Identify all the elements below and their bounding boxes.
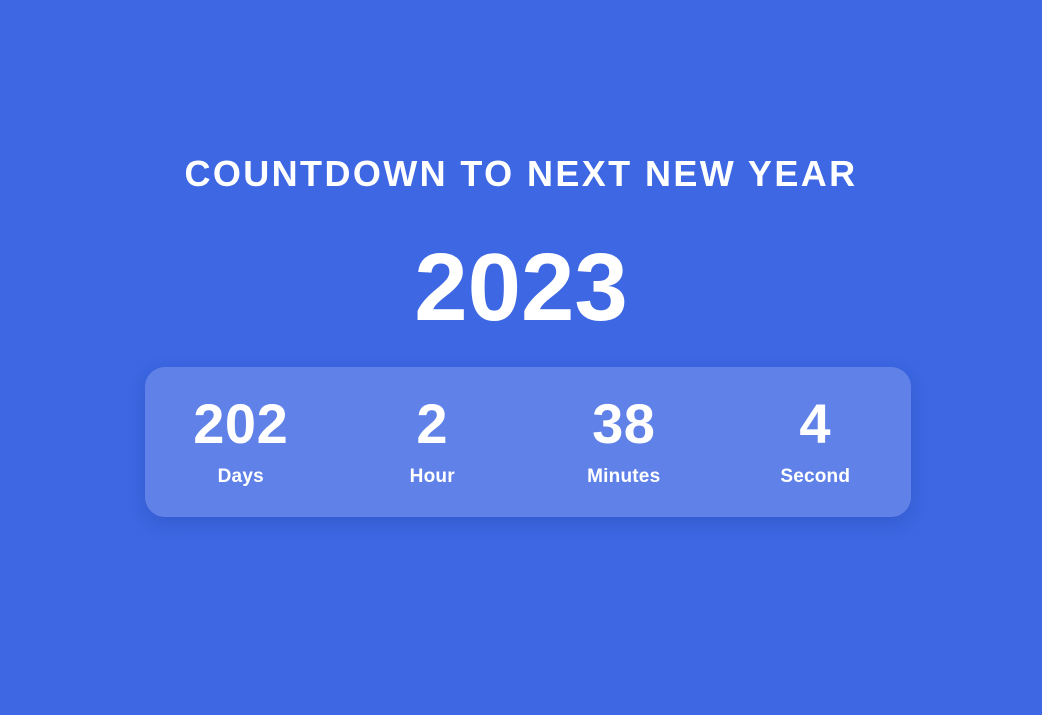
target-year: 2023 xyxy=(0,238,1042,338)
countdown-timer-panel: 202 Days 2 Hour 38 Minutes 4 Second xyxy=(145,367,911,517)
hours-label: Hour xyxy=(410,465,455,489)
time-unit-minutes: 38 Minutes xyxy=(528,395,720,489)
page-title: COUNTDOWN TO NEXT NEW YEAR xyxy=(0,152,1042,196)
countdown-page: COUNTDOWN TO NEXT NEW YEAR 2023 202 Days… xyxy=(0,0,1042,715)
days-value: 202 xyxy=(193,395,288,453)
seconds-label: Second xyxy=(780,465,850,489)
time-unit-seconds: 4 Second xyxy=(720,395,912,489)
time-unit-hours: 2 Hour xyxy=(337,395,529,489)
hours-value: 2 xyxy=(416,395,448,453)
time-unit-days: 202 Days xyxy=(145,395,337,489)
minutes-value: 38 xyxy=(592,395,655,453)
minutes-label: Minutes xyxy=(587,465,660,489)
seconds-value: 4 xyxy=(799,395,831,453)
days-label: Days xyxy=(218,465,264,489)
